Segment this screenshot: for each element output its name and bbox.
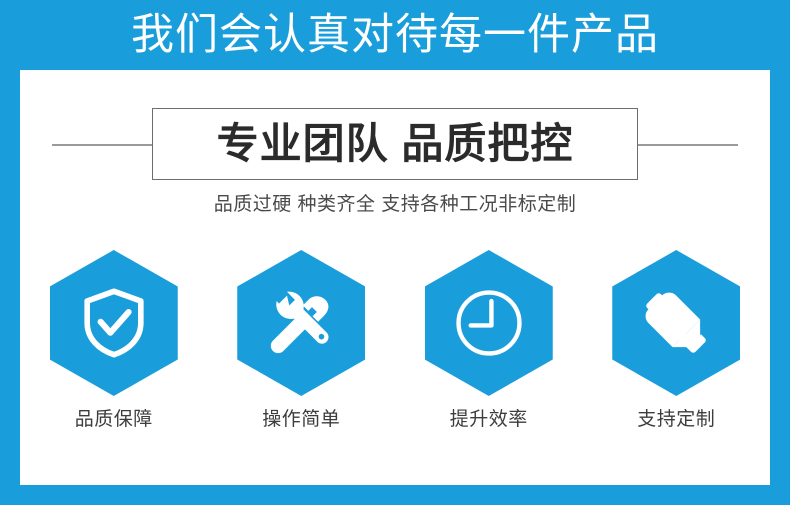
clock-icon xyxy=(450,284,528,362)
feature-item-customization[interactable]: 支持定制 xyxy=(601,250,751,429)
feature-hexagon xyxy=(612,250,740,396)
promo-banner: 我们会认真对待每一件产品 专业团队 品质把控 品质过硬 种类齐全 支持各种工况非… xyxy=(0,0,790,505)
page-title: 专业团队 品质把控 xyxy=(217,123,574,165)
banner-header: 我们会认真对待每一件产品 xyxy=(0,0,790,70)
feature-hexagon xyxy=(50,250,178,396)
feature-hexagon xyxy=(237,250,365,396)
title-rule-left xyxy=(52,144,154,146)
feature-label: 提升效率 xyxy=(450,410,528,429)
hammer-wrench-icon xyxy=(262,284,340,362)
title-block: 专业团队 品质把控 xyxy=(20,108,770,180)
title-rule-right xyxy=(636,144,738,146)
header-title: 我们会认真对待每一件产品 xyxy=(131,14,659,57)
feature-label: 操作简单 xyxy=(262,410,340,429)
ruler-pen-icon xyxy=(637,284,715,362)
feature-item-efficiency[interactable]: 提升效率 xyxy=(414,250,564,429)
feature-item-quality[interactable]: 品质保障 xyxy=(39,250,189,429)
content-panel: 专业团队 品质把控 品质过硬 种类齐全 支持各种工况非标定制 品质保障 xyxy=(20,70,770,485)
feature-label: 支持定制 xyxy=(637,410,715,429)
feature-list: 品质保障 xyxy=(20,250,770,450)
subtitle: 品质过硬 种类齐全 支持各种工况非标定制 xyxy=(20,195,770,214)
feature-item-operation[interactable]: 操作简单 xyxy=(226,250,376,429)
feature-hexagon xyxy=(425,250,553,396)
shield-check-icon xyxy=(75,284,153,362)
title-box: 专业团队 品质把控 xyxy=(152,108,638,180)
feature-label: 品质保障 xyxy=(75,410,153,429)
